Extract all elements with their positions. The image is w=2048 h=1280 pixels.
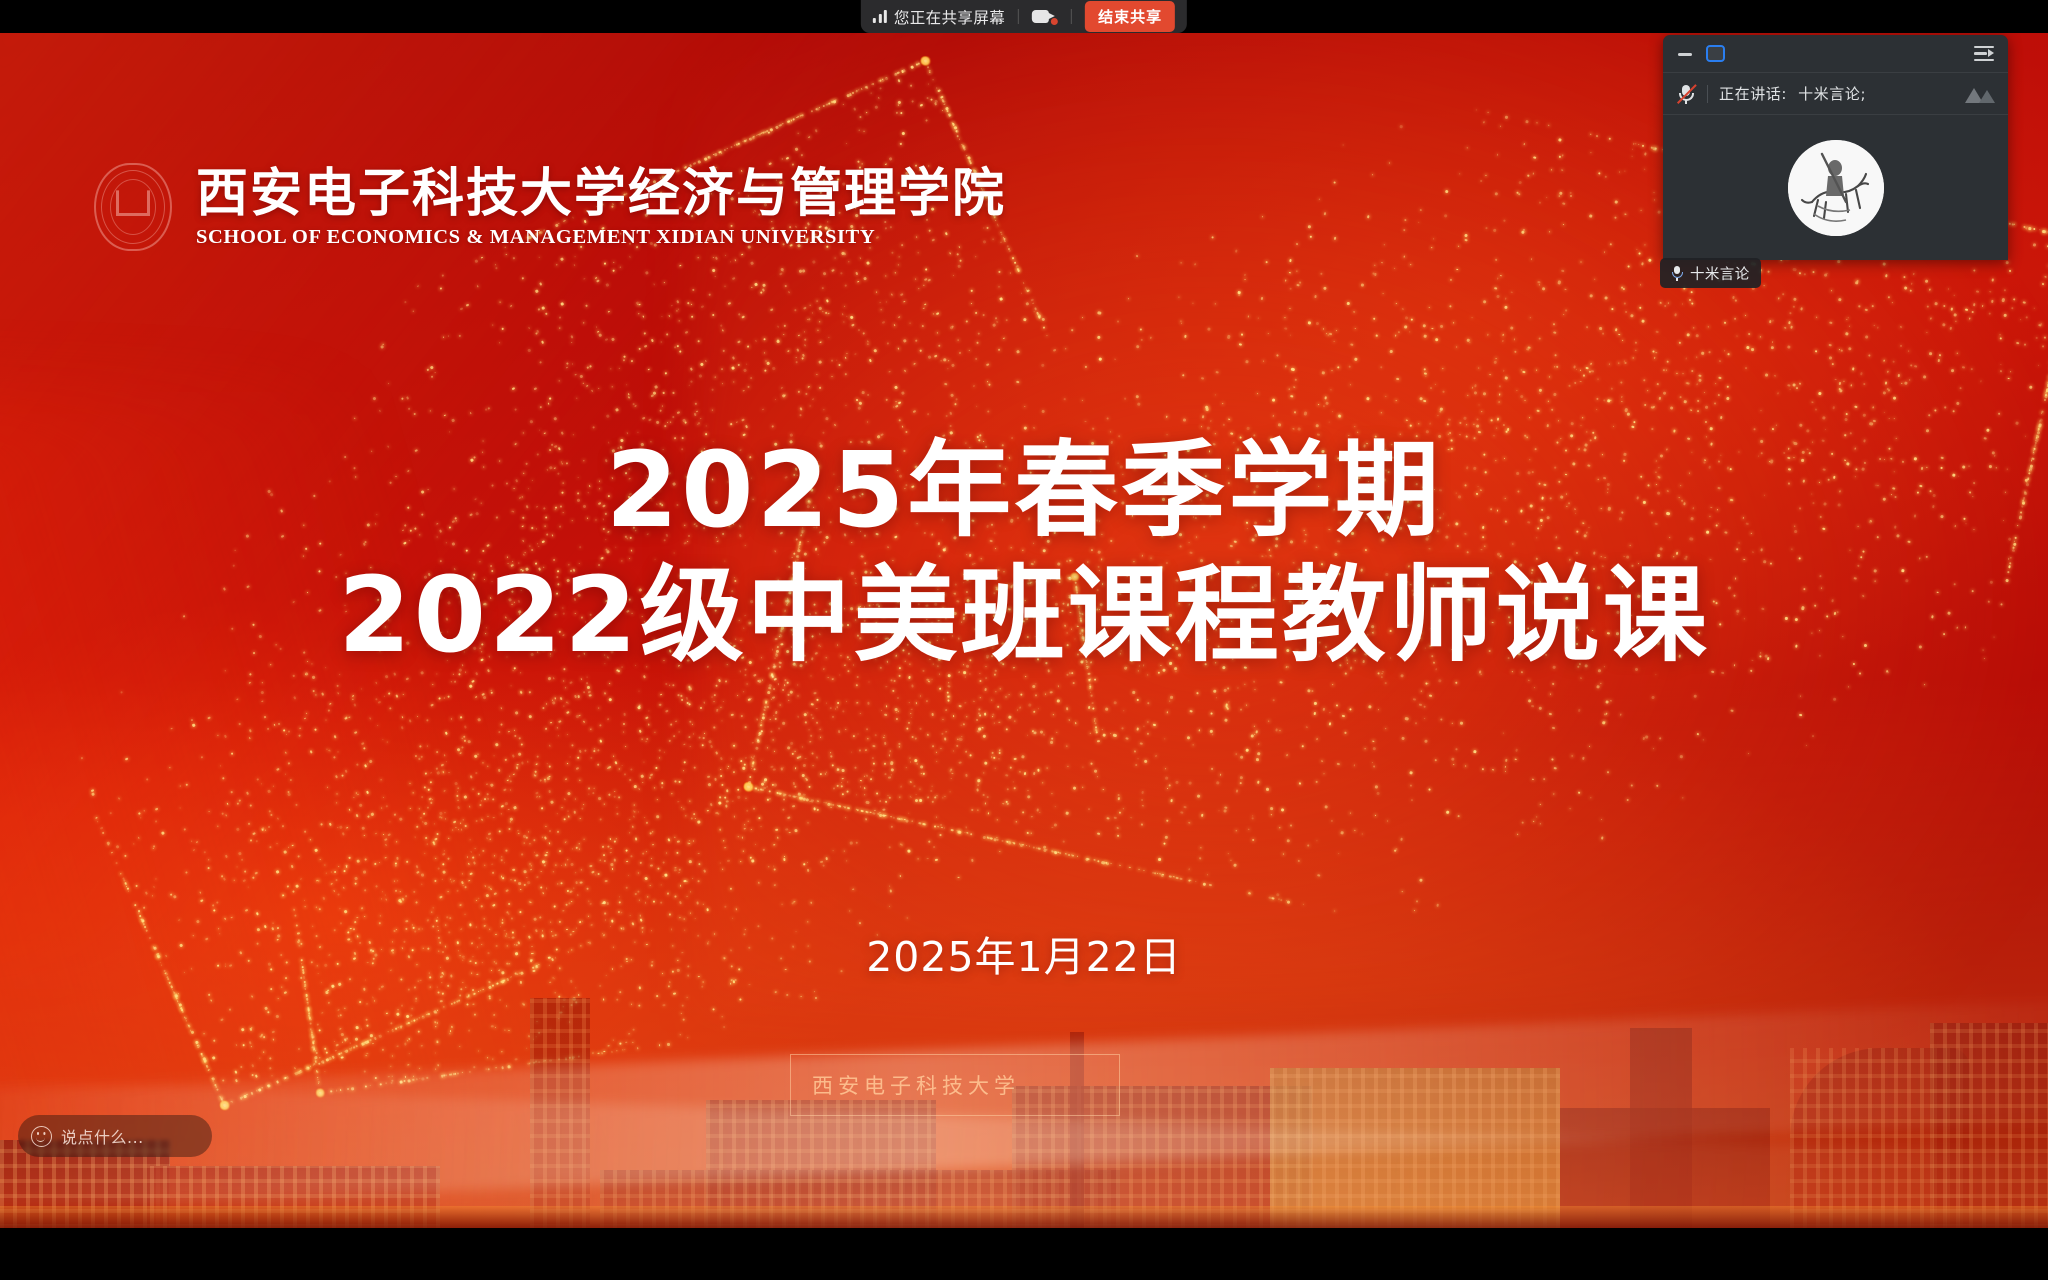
- chat-input-placeholder: 说点什么...: [61, 1124, 144, 1148]
- end-share-button[interactable]: 结束共享: [1085, 1, 1175, 32]
- maximize-window-icon[interactable]: [1706, 45, 1725, 62]
- collapse-panel-icon[interactable]: [1974, 46, 1994, 62]
- screen-share-toolbar: 您正在共享屏幕 结束共享: [861, 0, 1187, 33]
- speaking-status-bar: 正在讲话: 十米言论;: [1663, 73, 2008, 115]
- warrior-on-horseback-avatar: [1788, 140, 1884, 236]
- speaking-name: 十米言论;: [1798, 83, 1866, 104]
- hamburger-menu-icon[interactable]: [1738, 46, 1755, 61]
- avatar: [1788, 140, 1884, 236]
- logo-english-name: SCHOOL OF ECONOMICS & MANAGEMENT XIDIAN …: [196, 227, 1006, 248]
- university-logo: 西安电子科技大学经济与管理学院 SCHOOL OF ECONOMICS & MA…: [92, 161, 1006, 253]
- logo-chinese-name: 西安电子科技大学经济与管理学院: [196, 167, 1006, 222]
- participant-name-badge: 十米言论: [1660, 258, 1761, 288]
- divider: [1071, 9, 1072, 24]
- video-panel: 正在讲话: 十米言论;: [1663, 35, 2008, 260]
- title-line-2: 2022级中美班课程教师说课: [0, 553, 2048, 678]
- chat-input[interactable]: 说点什么...: [18, 1115, 212, 1157]
- cityscape-banner-text: 西安电子科技大学: [812, 1070, 1020, 1100]
- microphone-icon: [1671, 266, 1683, 281]
- slide-title: 2025年春季学期 2022级中美班课程教师说课: [0, 428, 2048, 678]
- video-stage[interactable]: [1663, 115, 2008, 260]
- sharing-status-text: 您正在共享屏幕: [894, 6, 1005, 28]
- gallery-view-icon[interactable]: [1965, 84, 1995, 103]
- signal-bars-icon: [873, 10, 887, 23]
- divider: [1707, 85, 1708, 103]
- minimize-icon[interactable]: [1677, 46, 1693, 62]
- divider: [1018, 9, 1019, 24]
- participant-name: 十米言论: [1690, 263, 1750, 284]
- microphone-muted-icon[interactable]: [1676, 83, 1696, 105]
- screen-root: 西安电子科技大学经济与管理学院 SCHOOL OF ECONOMICS & MA…: [0, 0, 2048, 1280]
- ground-strip: [0, 1206, 2048, 1228]
- smiley-face-icon[interactable]: [31, 1126, 52, 1147]
- video-panel-titlebar: [1663, 35, 2008, 73]
- camera-recording-icon[interactable]: [1032, 9, 1058, 25]
- xidian-university-seal-icon: [92, 161, 174, 253]
- speaking-label: 正在讲话:: [1719, 83, 1787, 104]
- cityscape-silhouette: 西安电子科技大学: [0, 968, 2048, 1228]
- title-line-1: 2025年春季学期: [0, 428, 2048, 553]
